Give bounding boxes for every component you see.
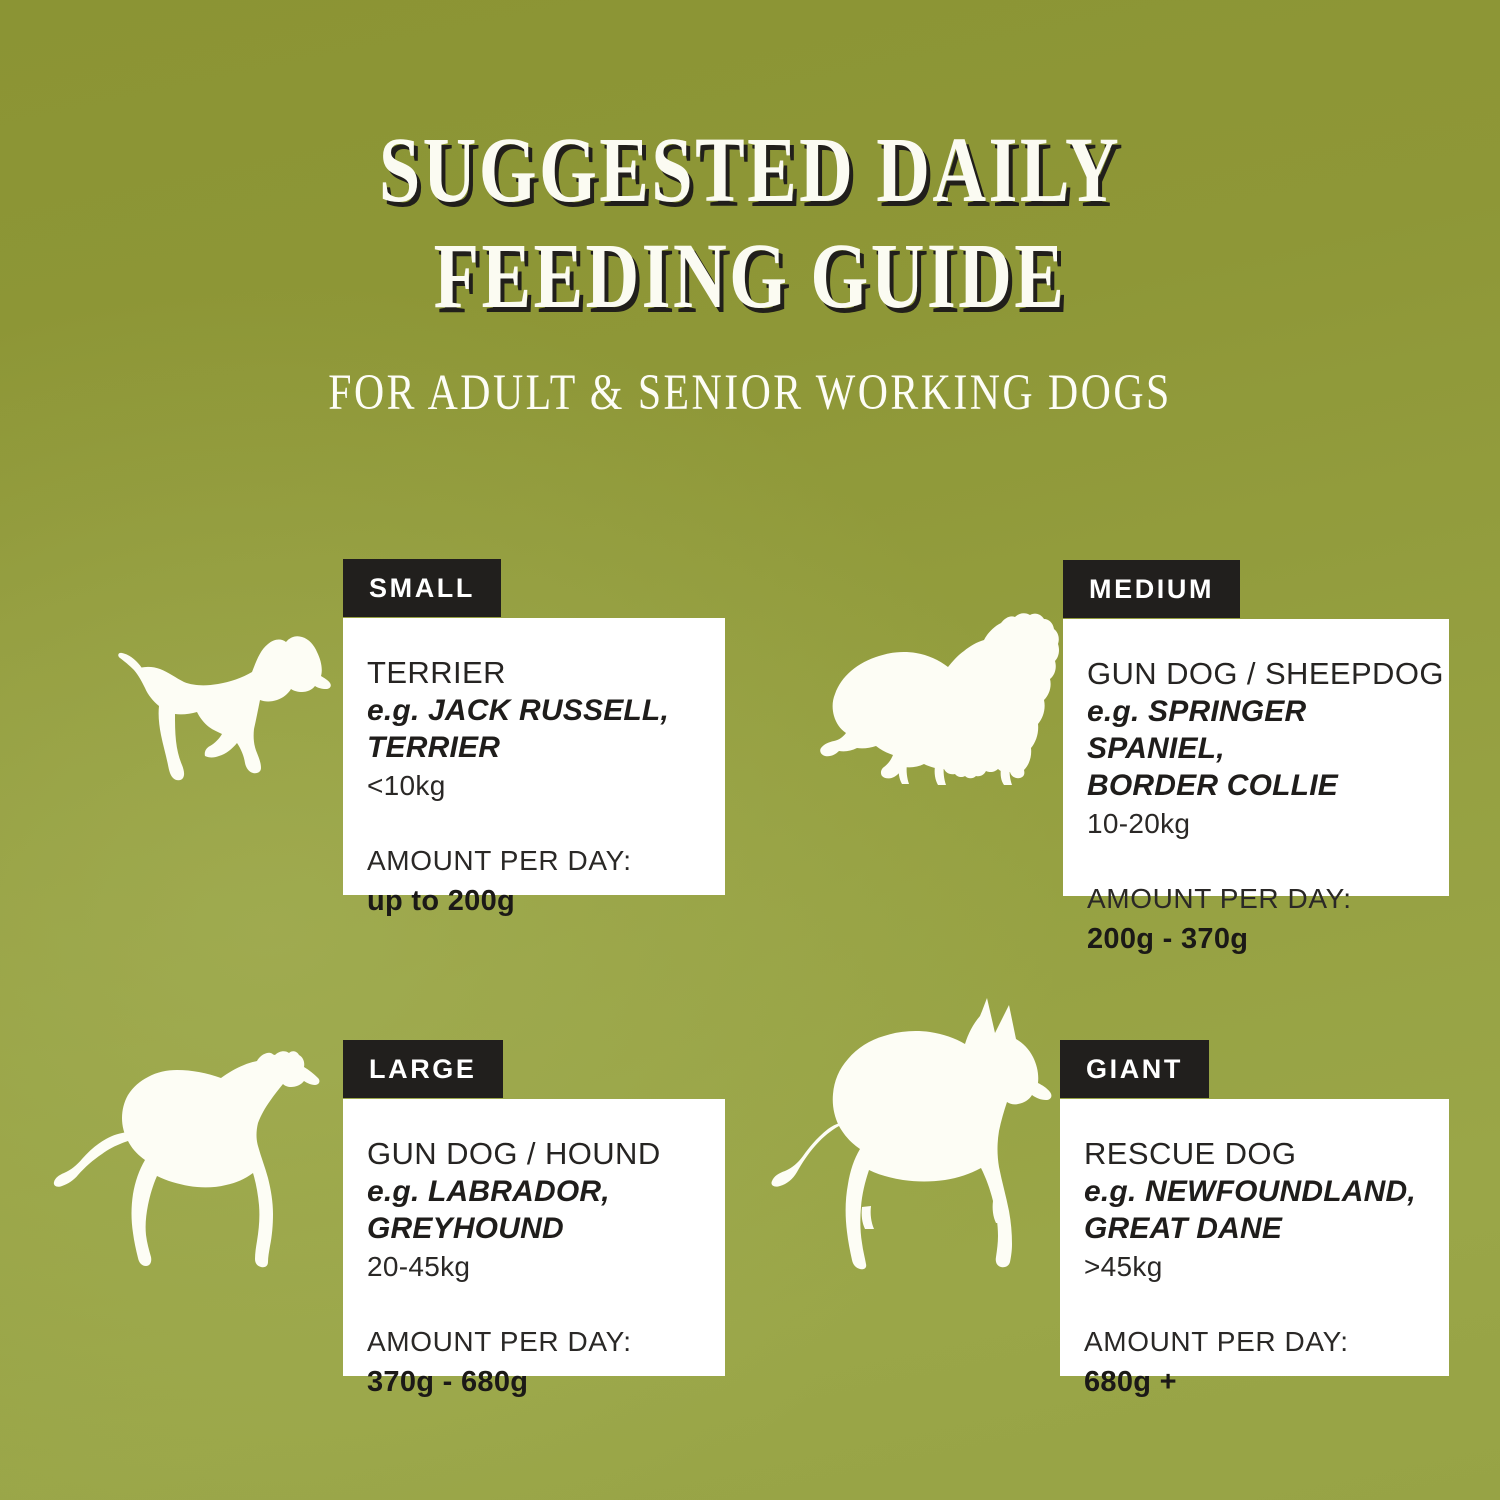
dog-type-giant: RESCUE DOG — [1084, 1135, 1419, 1173]
weight-range-small: <10kg — [367, 768, 695, 804]
size-tag-giant: GIANT — [1060, 1040, 1209, 1098]
weight-range-large: 20-45kg — [367, 1249, 695, 1285]
card-large: GUN DOG / HOUND e.g. LABRADOR, GREYHOUND… — [343, 1099, 725, 1376]
amount-value-medium: 200g - 370g — [1087, 921, 1419, 957]
example-lead-medium: e.g. — [1087, 695, 1139, 728]
example-line1-small: JACK RUSSELL, — [428, 694, 669, 727]
example-line2-small: TERRIER — [367, 731, 500, 764]
example-line1-large: LABRADOR, — [428, 1175, 610, 1208]
page-title-line-2: FEEDING GUIDE — [150, 224, 1350, 330]
example-line2-large: GREYHOUND — [367, 1212, 564, 1245]
page-title-line-1: SUGGESTED DAILY — [150, 118, 1350, 224]
card-giant: RESCUE DOG e.g. NEWFOUNDLAND, GREAT DANE… — [1060, 1099, 1449, 1376]
example-line2-giant: GREAT DANE — [1084, 1212, 1282, 1245]
dog-type-medium: GUN DOG / SHEEPDOG — [1087, 655, 1419, 693]
greyhound-silhouette-icon — [18, 1045, 338, 1270]
dog-type-small: TERRIER — [367, 654, 695, 692]
example-lead-large: e.g. — [367, 1175, 419, 1208]
page-subtitle: FOR ADULT & SENIOR WORKING DOGS — [135, 364, 1365, 422]
amount-label-large: AMOUNT PER DAY: — [367, 1325, 695, 1359]
dog-type-large: GUN DOG / HOUND — [367, 1135, 695, 1173]
card-small: TERRIER e.g. JACK RUSSELL, TERRIER <10kg… — [343, 618, 725, 895]
dog-example-small: e.g. JACK RUSSELL, TERRIER — [367, 692, 695, 766]
weight-range-medium: 10-20kg — [1087, 806, 1419, 842]
infographic-poster: SUGGESTED DAILY FEEDING GUIDE FOR ADULT … — [0, 0, 1500, 1500]
example-lead-small: e.g. — [367, 694, 419, 727]
amount-value-small: up to 200g — [367, 883, 695, 919]
card-medium: GUN DOG / SHEEPDOG e.g. SPRINGER SPANIEL… — [1063, 619, 1449, 896]
example-lead-giant: e.g. — [1084, 1175, 1136, 1208]
dog-example-large: e.g. LABRADOR, GREYHOUND — [367, 1173, 695, 1247]
poster-header: SUGGESTED DAILY FEEDING GUIDE FOR ADULT … — [0, 118, 1500, 422]
amount-label-giant: AMOUNT PER DAY: — [1084, 1325, 1419, 1359]
size-tag-large: LARGE — [343, 1040, 503, 1098]
great-dane-silhouette-icon — [765, 995, 1060, 1270]
weight-range-giant: >45kg — [1084, 1249, 1419, 1285]
example-line1-giant: NEWFOUNDLAND, — [1145, 1175, 1416, 1208]
dog-example-medium: e.g. SPRINGER SPANIEL, BORDER COLLIE — [1087, 693, 1419, 804]
amount-label-medium: AMOUNT PER DAY: — [1087, 882, 1419, 916]
terrier-silhouette-icon — [118, 622, 343, 792]
size-tag-medium: MEDIUM — [1063, 560, 1240, 618]
amount-value-large: 370g - 680g — [367, 1364, 695, 1400]
amount-value-giant: 680g + — [1084, 1364, 1419, 1400]
size-tag-small: SMALL — [343, 559, 501, 617]
dog-example-giant: e.g. NEWFOUNDLAND, GREAT DANE — [1084, 1173, 1419, 1247]
example-line2-medium: BORDER COLLIE — [1087, 769, 1338, 802]
amount-label-small: AMOUNT PER DAY: — [367, 844, 695, 878]
border-collie-silhouette-icon — [805, 605, 1060, 785]
